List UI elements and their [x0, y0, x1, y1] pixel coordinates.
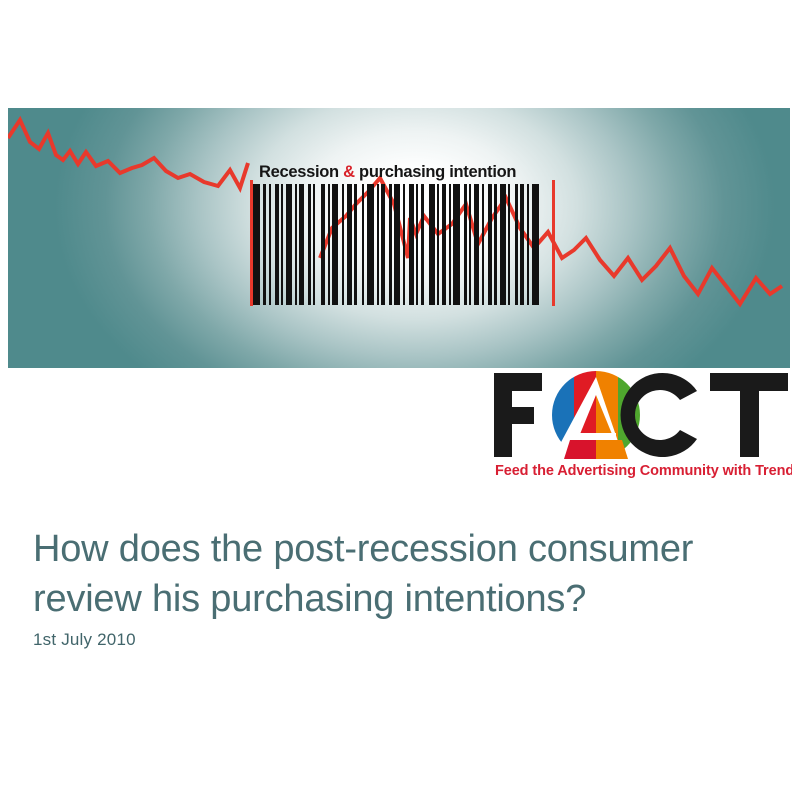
- logo-letter-t: [710, 373, 788, 457]
- logo-letter-c: [621, 373, 697, 457]
- barcode-graphic: Recession & purchasing intention: [245, 156, 558, 308]
- page-title-line-2: review his purchasing intentions?: [33, 574, 763, 624]
- slide-canvas: Recession & purchasing intention: [0, 0, 800, 800]
- barcode-caption-text: Recession & purchasing intention: [259, 159, 559, 185]
- slide-date: 1st July 2010: [33, 630, 136, 650]
- fact-logo: Feed the Advertising Community with Tren…: [492, 369, 792, 479]
- barcode-bars: [253, 184, 555, 305]
- hero-banner-image: Recession & purchasing intention: [8, 108, 790, 368]
- logo-tagline: Feed the Advertising Community with Tren…: [495, 463, 792, 479]
- page-title: How does the post-recession consumer rev…: [33, 524, 763, 624]
- logo-letter-f: [494, 373, 542, 457]
- fact-logo-svg: Feed the Advertising Community with Tren…: [492, 369, 792, 479]
- page-title-line-1: How does the post-recession consumer: [33, 528, 693, 570]
- caption-ampersand: &: [343, 163, 355, 181]
- caption-post: purchasing intention: [355, 163, 516, 181]
- caption-pre: Recession: [259, 163, 343, 181]
